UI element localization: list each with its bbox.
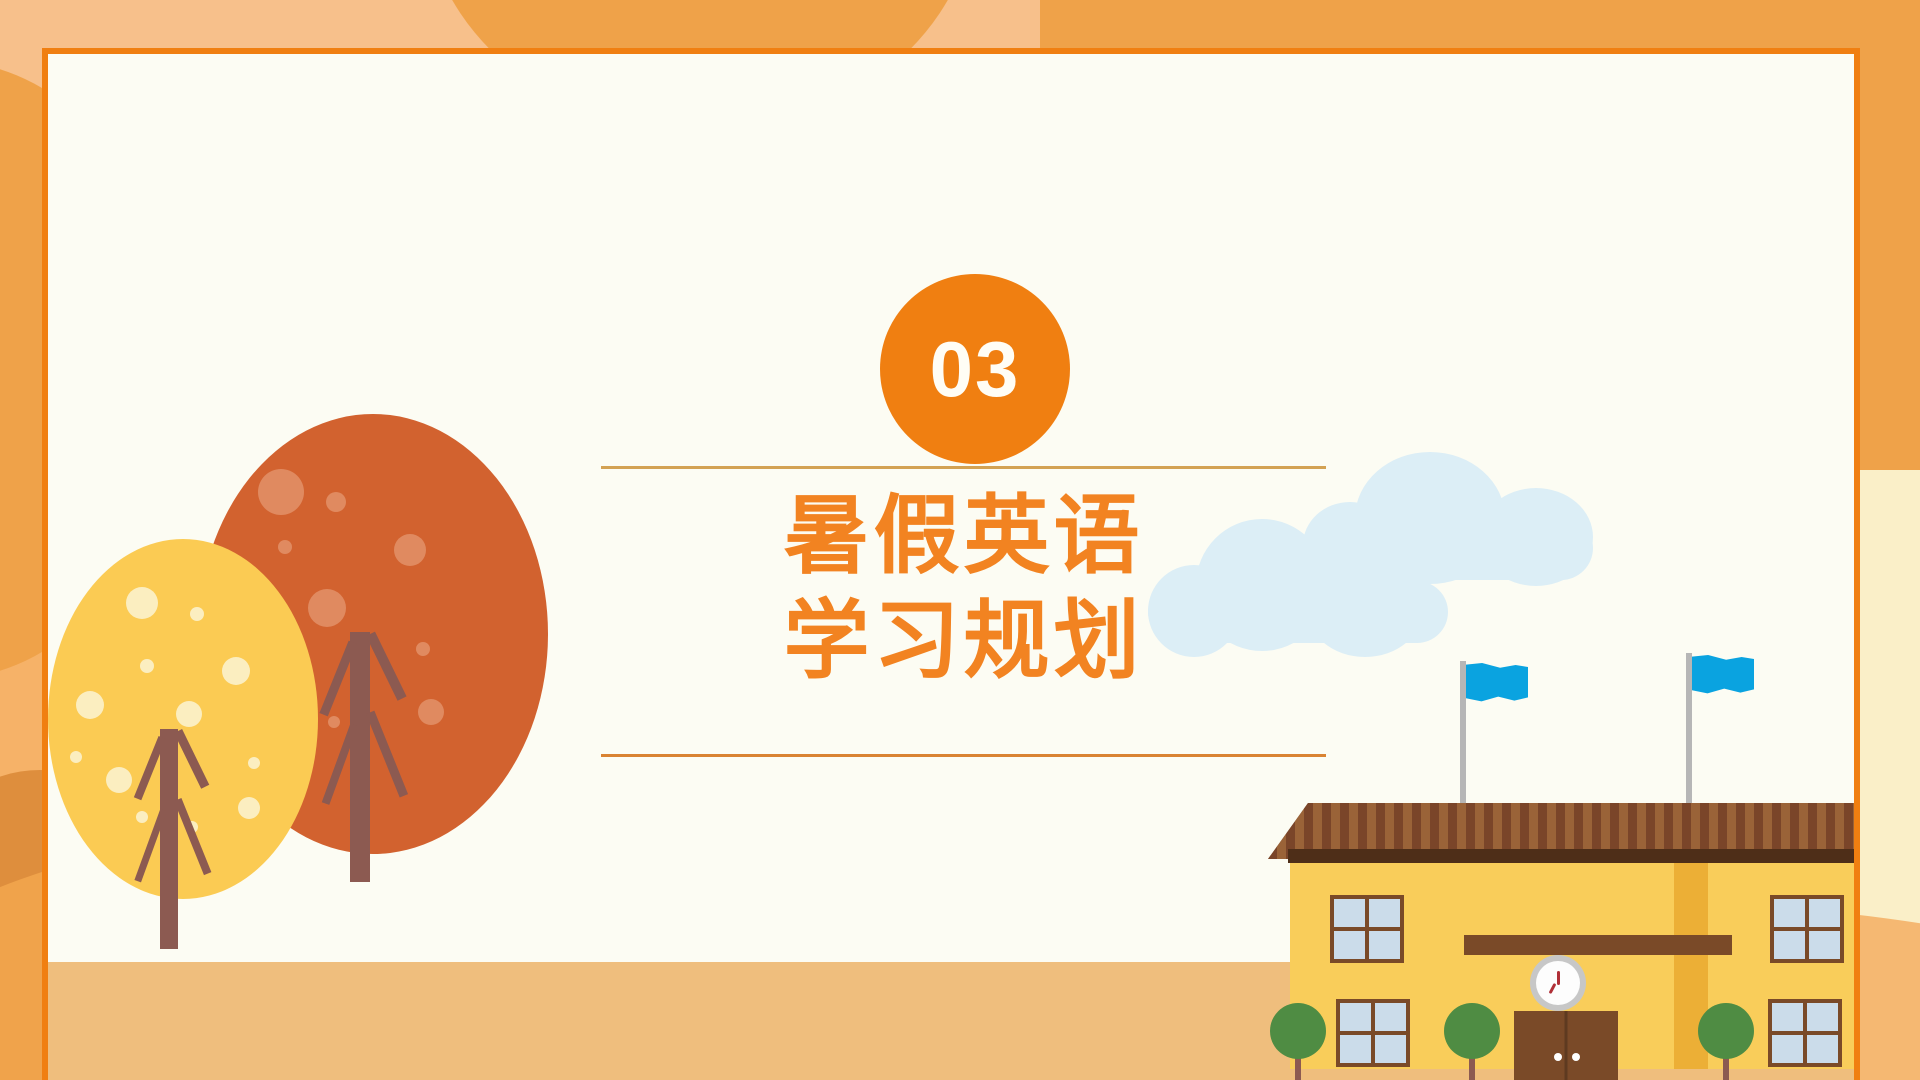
- tree-red-dot: [416, 642, 430, 656]
- school-window-upper-right: [1770, 895, 1844, 963]
- window-pane: [1774, 899, 1805, 927]
- window-pane: [1340, 1003, 1371, 1031]
- window-pane: [1807, 1003, 1838, 1031]
- school-building: [1278, 789, 1860, 1080]
- clock-hand-hour: [1557, 971, 1560, 985]
- tree-yellow-dot: [248, 757, 260, 769]
- content-card: 03 暑假英语 学习规划: [42, 48, 1860, 1080]
- cloud-right-puff: [1479, 488, 1593, 586]
- bush-3: [1698, 1003, 1754, 1080]
- tree-yellow-dot: [76, 691, 104, 719]
- divider-top: [601, 466, 1326, 469]
- school-clock: [1530, 955, 1586, 1011]
- window-pane: [1772, 1003, 1803, 1031]
- school-roof-eave: [1288, 849, 1860, 863]
- section-number-label: 03: [930, 330, 1021, 408]
- window-pane: [1774, 931, 1805, 959]
- tree-yellow-dot: [136, 811, 148, 823]
- tree-red-dot: [258, 469, 304, 515]
- school-window-lower-right: [1768, 999, 1842, 1067]
- window-pane: [1334, 931, 1365, 959]
- window-pane: [1772, 1035, 1803, 1063]
- tree-yellow-dot: [70, 751, 82, 763]
- tree-yellow-dot: [140, 659, 154, 673]
- tree-red-dot: [418, 699, 444, 725]
- school-entrance-door[interactable]: [1514, 1011, 1618, 1080]
- flag-left: [1466, 663, 1528, 703]
- school-window-upper-left: [1330, 895, 1404, 963]
- window-pane: [1340, 1035, 1371, 1063]
- cloud-left-puff: [1148, 565, 1240, 657]
- cloud-right: [1303, 452, 1593, 582]
- tree-yellow-dot: [222, 657, 250, 685]
- bush-crown: [1270, 1003, 1326, 1059]
- bush-crown: [1854, 1003, 1860, 1059]
- window-pane: [1334, 899, 1365, 927]
- bush-crown: [1444, 1003, 1500, 1059]
- tree-yellow-trunk: [160, 729, 178, 949]
- bush-crown: [1698, 1003, 1754, 1059]
- window-pane: [1369, 899, 1400, 927]
- tree-red-trunk: [350, 632, 370, 882]
- section-number-badge: 03: [880, 274, 1070, 464]
- bush-4: [1854, 1003, 1860, 1080]
- bush-2: [1444, 1003, 1500, 1080]
- clock-face: [1536, 961, 1580, 1005]
- cloud-right-puff: [1303, 502, 1397, 588]
- door-split: [1565, 1011, 1568, 1080]
- window-pane: [1809, 899, 1840, 927]
- window-pane: [1375, 1003, 1406, 1031]
- window-pane: [1369, 931, 1400, 959]
- tree-yellow-dot: [176, 701, 202, 727]
- window-pane: [1375, 1035, 1406, 1063]
- tree-yellow-dot: [238, 797, 260, 819]
- tree-yellow-dot: [106, 767, 132, 793]
- tree-yellow-dot: [190, 607, 204, 621]
- school-entrance-canopy: [1464, 935, 1732, 955]
- bush-1: [1270, 1003, 1326, 1080]
- clock-hand-minute: [1549, 983, 1557, 994]
- flag-right: [1692, 655, 1754, 695]
- divider-bottom: [601, 754, 1326, 757]
- tree-yellow: [48, 539, 318, 899]
- slide-root: 03 暑假英语 学习规划: [0, 0, 1920, 1080]
- door-knob-right: [1572, 1053, 1580, 1061]
- tree-red-dot: [328, 716, 340, 728]
- school-window-lower-left: [1336, 999, 1410, 1067]
- tree-yellow-dot: [126, 587, 158, 619]
- tree-red-dot: [394, 534, 426, 566]
- door-knob-left: [1554, 1053, 1562, 1061]
- window-pane: [1809, 931, 1840, 959]
- tree-red-dot: [326, 492, 346, 512]
- window-pane: [1807, 1035, 1838, 1063]
